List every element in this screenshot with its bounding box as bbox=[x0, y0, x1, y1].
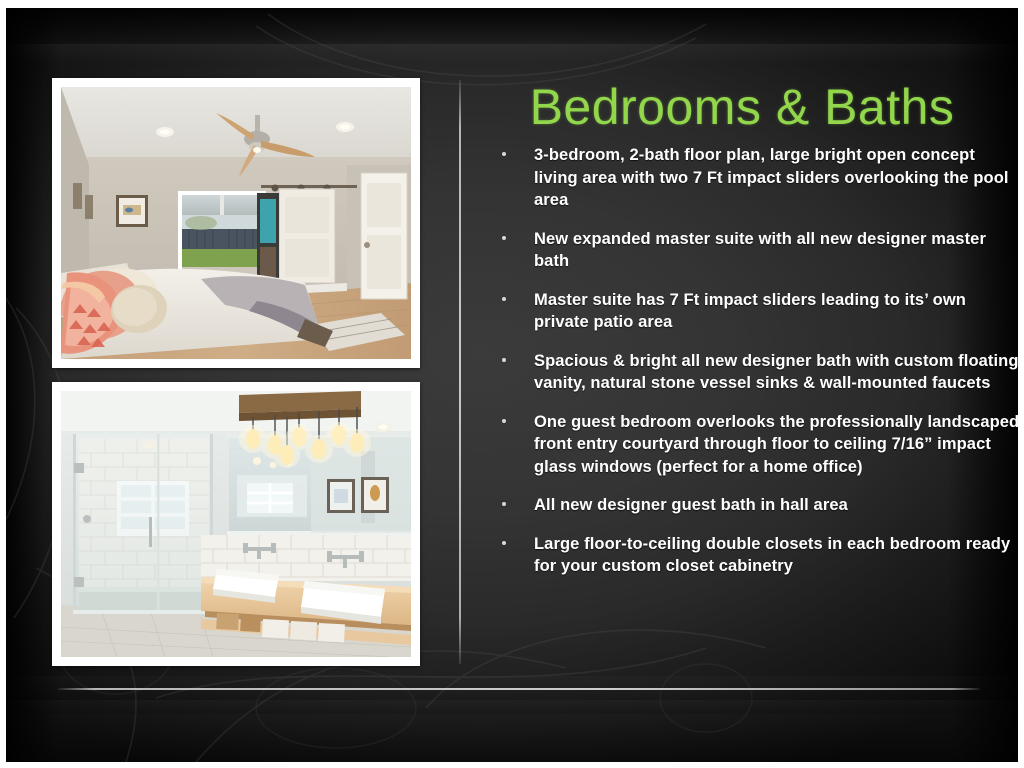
bullet-dot-icon bbox=[502, 502, 506, 506]
list-item-text: Master suite has 7 Ft impact sliders lea… bbox=[534, 291, 966, 332]
bottom-divider-line bbox=[58, 688, 980, 690]
list-item: Master suite has 7 Ft impact sliders lea… bbox=[476, 289, 1018, 334]
bullet-dot-icon bbox=[502, 236, 506, 240]
designer-bathroom-photo bbox=[61, 391, 411, 657]
list-item: All new designer guest bath in hall area bbox=[476, 494, 1018, 517]
background-band-upper bbox=[6, 44, 1018, 64]
bullet-dot-icon bbox=[502, 419, 506, 423]
bullet-dot-icon bbox=[502, 152, 506, 156]
list-item: New expanded master suite with all new d… bbox=[476, 228, 1018, 273]
column-divider-line bbox=[459, 80, 461, 664]
page-title: Bedrooms & Baths bbox=[476, 78, 1018, 136]
master-bedroom-photo bbox=[61, 87, 411, 359]
background-band-top bbox=[6, 8, 1018, 44]
list-item-text: Large floor-to-ceiling double closets in… bbox=[534, 535, 1010, 576]
designer-bathroom-photo-frame bbox=[52, 382, 420, 666]
list-item: 3-bedroom, 2-bath floor plan, large brig… bbox=[476, 144, 1018, 212]
bullet-dot-icon bbox=[502, 541, 506, 545]
list-item-text: One guest bedroom overlooks the professi… bbox=[534, 413, 1018, 476]
list-item-text: 3-bedroom, 2-bath floor plan, large brig… bbox=[534, 146, 1009, 209]
content-column: Bedrooms & Baths 3-bedroom, 2-bath floor… bbox=[476, 78, 1018, 678]
list-item: Spacious & bright all new designer bath … bbox=[476, 350, 1018, 395]
list-item-text: Spacious & bright all new designer bath … bbox=[534, 352, 1018, 393]
background-band-bottom bbox=[6, 700, 1018, 762]
bullet-dot-icon bbox=[502, 297, 506, 301]
presentation-slide: Bedrooms & Baths 3-bedroom, 2-bath floor… bbox=[0, 0, 1024, 768]
list-item: One guest bedroom overlooks the professi… bbox=[476, 411, 1018, 479]
master-bedroom-photo-frame bbox=[52, 78, 420, 368]
list-item-text: All new designer guest bath in hall area bbox=[534, 496, 848, 514]
feature-bullet-list: 3-bedroom, 2-bath floor plan, large brig… bbox=[476, 144, 1018, 578]
bullet-dot-icon bbox=[502, 358, 506, 362]
list-item-text: New expanded master suite with all new d… bbox=[534, 230, 986, 271]
background-band-lower bbox=[6, 676, 1018, 714]
slide-canvas: Bedrooms & Baths 3-bedroom, 2-bath floor… bbox=[6, 8, 1018, 762]
list-item: Large floor-to-ceiling double closets in… bbox=[476, 533, 1018, 578]
